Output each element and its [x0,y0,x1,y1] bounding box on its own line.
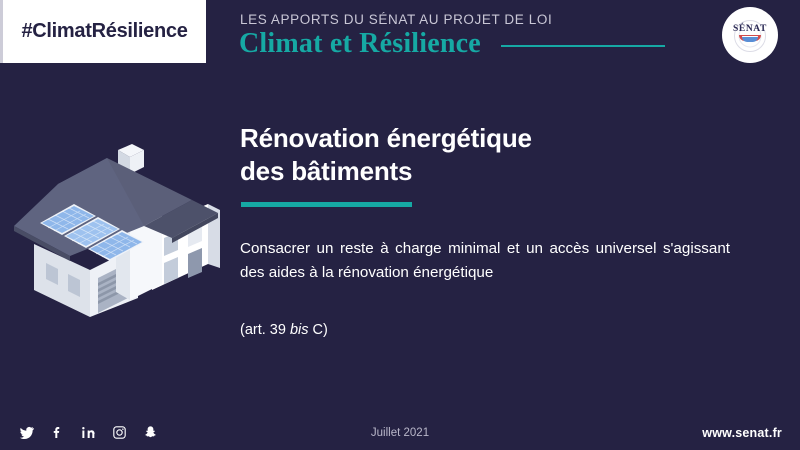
senat-logo: SÉNAT [722,7,778,63]
article-reference-suffix: C) [309,322,328,338]
article-reference-italic: bis [290,322,309,338]
footer-url[interactable]: www.senat.fr [702,426,782,440]
title-underline-bar [241,202,412,207]
header-kicker: LES APPORTS DU SÉNAT AU PROJET DE LOI [240,12,552,27]
body-paragraph: Consacrer un reste à charge minimal et u… [240,237,730,284]
page-title: Rénovation énergétique des bâtiments [240,122,670,188]
page-title-line-2: des bâtiments [240,155,670,188]
house-illustration [12,132,227,317]
footer-date: Juillet 2021 [0,427,800,439]
slide-root: #ClimatRésilience LES APPORTS DU SÉNAT A… [0,0,800,450]
senat-emblem-arcs [738,35,762,44]
hashtag-badge: #ClimatRésilience [0,0,206,63]
header-divider-rule [501,45,665,47]
article-reference: (art. 39 bis C) [240,322,730,338]
senat-wordmark: SÉNAT [733,24,767,34]
page-title-line-1: Rénovation énergétique [240,122,670,155]
header-title: Climat et Résilience [239,28,481,60]
emblem-arc-blue [742,37,758,42]
article-reference-prefix: (art. 39 [240,322,290,338]
hashtag-label: #ClimatRésilience [21,20,187,43]
